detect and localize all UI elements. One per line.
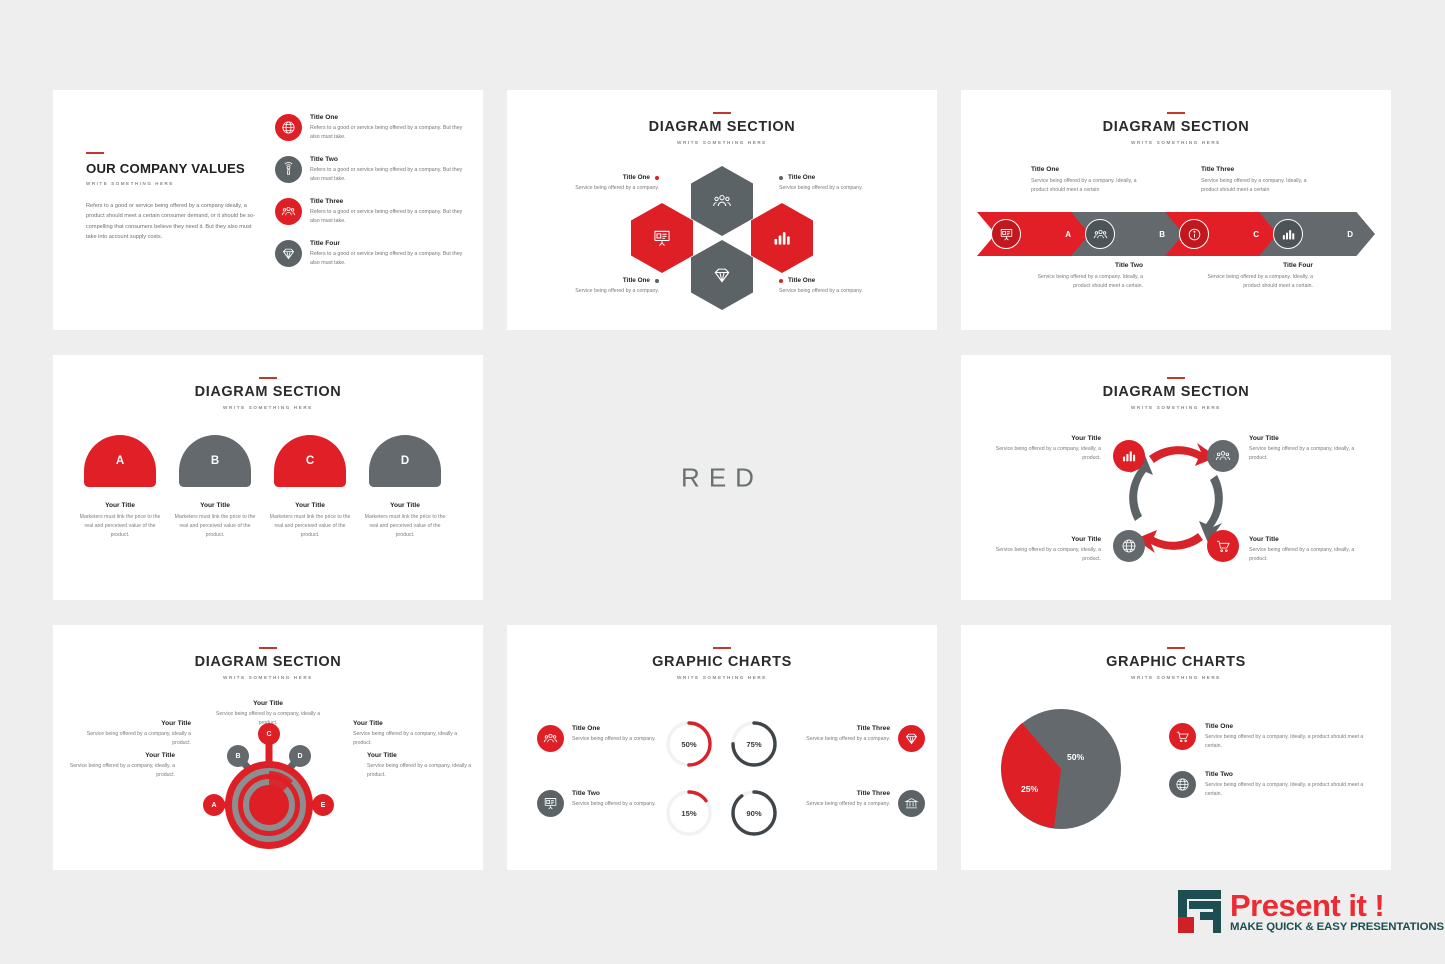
hexagon-label-bottom-right: Title One Service being offered by a com…: [779, 277, 919, 294]
chevron-label-title: Title One: [1031, 166, 1143, 173]
dome-item-d[interactable]: D Your Title Marketers must link the pri…: [364, 435, 446, 540]
chevron-label-four: Title Four Service being offered by a co…: [1201, 262, 1313, 291]
chevron-label-title: Title Four: [1201, 262, 1313, 269]
hexagon-label-title: Title One: [788, 277, 815, 284]
legend-text: Title Two Service being offered by a com…: [1205, 771, 1369, 799]
title-rule: [1167, 647, 1185, 649]
cycle-label-desc: Service being offered by a company, idea…: [1249, 445, 1359, 463]
title-rule: [259, 647, 277, 649]
slide-red-wordmark: RED: [507, 355, 937, 600]
donut-percent-label: 75%: [729, 719, 779, 769]
page-subtitle: WRITE SOMETHING HERE: [53, 675, 483, 680]
target-node-a[interactable]: A: [203, 794, 225, 816]
cycle-label-desc: Service being offered by a company, idea…: [991, 546, 1101, 564]
list-item-desc: Refers to a good or service being offere…: [310, 250, 465, 267]
pie-label-50: 50%: [1067, 752, 1084, 762]
presentation-icon: [991, 219, 1021, 249]
cycle-label-desc: Service being offered by a company, idea…: [1249, 546, 1359, 564]
target-node-letter: A: [211, 802, 216, 809]
dome-title: Your Title: [79, 502, 161, 509]
bullet-dot-icon: [779, 279, 783, 283]
dome-letter: B: [211, 455, 219, 467]
dome-title: Your Title: [364, 502, 446, 509]
slide-dome-diagram[interactable]: DIAGRAM SECTION WRITE SOMETHING HERE A Y…: [53, 355, 483, 600]
chevron-label-desc: Service being offered by a company. Idea…: [1031, 177, 1143, 195]
list-item-text: Title One Refers to a good or service be…: [310, 114, 465, 141]
bullet-dot-icon: [779, 176, 783, 180]
title-rule: [1167, 377, 1185, 379]
dome-letter: D: [401, 455, 409, 467]
globe-icon[interactable]: [1113, 530, 1145, 562]
target-node-letter: B: [235, 753, 240, 760]
hexagon-label-title: Title One: [623, 277, 650, 284]
bullet-dot-icon: [655, 279, 659, 283]
page-title: DIAGRAM SECTION: [961, 120, 1391, 136]
slide-hexagon-diagram[interactable]: DIAGRAM SECTION WRITE SOMETHING HERE: [507, 90, 937, 330]
slide-header: DIAGRAM SECTION WRITE SOMETHING HERE: [961, 377, 1391, 410]
cycle-graphic: [1109, 430, 1243, 564]
bullet-dot-icon: [655, 176, 659, 180]
chevron-label-desc: Service being offered by a company. Idea…: [1201, 177, 1313, 195]
target-node-letter: E: [321, 802, 326, 809]
page-title: DIAGRAM SECTION: [961, 385, 1391, 401]
slide-cycle-diagram[interactable]: DIAGRAM SECTION WRITE SOMETHING HERE: [961, 355, 1391, 600]
red-wordmark: RED: [507, 462, 937, 493]
list-item-text: Title Two Refers to a good or service be…: [310, 156, 465, 183]
page-subtitle: WRITE SOMETHING HERE: [961, 405, 1391, 410]
page-title: DIAGRAM SECTION: [53, 655, 483, 671]
target-label-left-lower: Your Title Service being offered by a co…: [67, 752, 175, 780]
chevron-label-title: Title Three: [1201, 166, 1313, 173]
dome-desc: Marketers must link the price to the rea…: [174, 513, 256, 540]
dome-shape: D: [369, 435, 441, 487]
chevron-label-one: Title One Service being offered by a com…: [1031, 166, 1143, 195]
list-item-title: Title One: [310, 114, 465, 121]
page-title: DIAGRAM SECTION: [507, 120, 937, 136]
chevron-label-title: Title Two: [1031, 262, 1143, 269]
slide-header: DIAGRAM SECTION WRITE SOMETHING HERE: [507, 112, 937, 145]
cycle-label-desc: Service being offered by a company, idea…: [991, 445, 1101, 463]
podcast-icon: [275, 156, 302, 183]
barchart-icon: [1273, 219, 1303, 249]
cycle-label-title: Your Title: [1249, 435, 1359, 442]
dome-shape: B: [179, 435, 251, 487]
hexagon-bottom[interactable]: [691, 240, 753, 310]
bank-icon: [898, 790, 925, 817]
donut-percent-label: 50%: [664, 719, 714, 769]
list-item[interactable]: Title Three Refers to a good or service …: [275, 198, 465, 225]
dome-letter: A: [116, 455, 124, 467]
dome-desc: Marketers must link the price to the rea…: [269, 513, 351, 540]
target-label-title: Your Title: [67, 752, 175, 759]
chevron-label-two: Title Two Service being offered by a com…: [1031, 262, 1143, 291]
list-item-desc: Refers to a good or service being offere…: [310, 208, 465, 225]
page-subtitle: WRITE SOMETHING HERE: [507, 675, 937, 680]
info-icon: [1179, 219, 1209, 249]
list-item-desc: Refers to a good or service being offere…: [310, 124, 465, 141]
page-subtitle: WRITE SOMETHING HERE: [507, 140, 937, 145]
list-item-text: Title Three Refers to a good or service …: [310, 198, 465, 225]
list-item[interactable]: Title Two Refers to a good or service be…: [275, 156, 465, 183]
title-rule: [1167, 112, 1185, 114]
page-title: DIAGRAM SECTION: [53, 385, 483, 401]
donut-legend-right-one[interactable]: Title Three Service being offered by a c…: [775, 725, 925, 752]
hexagon-left[interactable]: [631, 203, 693, 273]
chevron-letter: B: [1159, 230, 1165, 239]
legend-desc: Service being offered by a company.: [806, 800, 890, 809]
chevron-letter: A: [1065, 230, 1071, 239]
globe-icon: [1169, 771, 1196, 798]
present-it-logo: Present it ! MAKE QUICK & EASY PRESENTAT…: [1176, 888, 1444, 935]
legend-text: Title One Service being offered by a com…: [1205, 723, 1369, 751]
donut-gauge-75[interactable]: 75%: [729, 719, 779, 769]
hexagon-label-desc: Service being offered by a company.: [779, 185, 919, 191]
people-icon: [275, 198, 302, 225]
hexagon-label-top-right: Title One Service being offered by a com…: [779, 174, 919, 191]
barchart-icon[interactable]: [1113, 440, 1145, 472]
target-label-title: Your Title: [353, 720, 461, 727]
company-values-intro: OUR COMPANY VALUES WRITE SOMETHING HERE …: [86, 152, 261, 242]
dome-row: A Your Title Marketers must link the pri…: [79, 435, 446, 540]
cycle-label-title: Your Title: [991, 435, 1101, 442]
brackets-logo-icon: [1176, 888, 1223, 935]
logo-sub-text: MAKE QUICK & EASY PRESENTATIONS: [1230, 922, 1444, 933]
target-label-title: Your Title: [214, 700, 322, 707]
target-node-d[interactable]: D: [289, 745, 311, 767]
pie-legend-item-two[interactable]: Title Two Service being offered by a com…: [1169, 771, 1369, 799]
dome-title: Your Title: [174, 502, 256, 509]
target-label-title: Your Title: [367, 752, 475, 759]
hexagon-label-bottom-left: Title One Service being offered by a com…: [519, 277, 659, 294]
hexagon-label-title: Title One: [788, 174, 815, 181]
dome-letter: C: [306, 455, 314, 467]
target-label-right-lower: Your Title Service being offered by a co…: [367, 752, 475, 780]
page-subtitle: WRITE SOMETHING HERE: [961, 140, 1391, 145]
title-rule: [86, 152, 104, 154]
hexagon-top[interactable]: [691, 166, 753, 236]
slide-company-values[interactable]: OUR COMPANY VALUES WRITE SOMETHING HERE …: [53, 90, 483, 330]
legend-text: Title One Service being offered by a com…: [572, 725, 656, 744]
pie-chart-graphic[interactable]: 50% 25%: [999, 707, 1123, 831]
donut-gauge-15[interactable]: 15%: [664, 788, 714, 838]
slide-header: GRAPHIC CHARTS WRITE SOMETHING HERE: [507, 647, 937, 680]
logo-text: Present it ! MAKE QUICK & EASY PRESENTAT…: [1230, 890, 1444, 933]
cycle-label-top-left: Your Title Service being offered by a co…: [991, 435, 1101, 463]
dome-desc: Marketers must link the price to the rea…: [79, 513, 161, 540]
target-node-b[interactable]: B: [227, 745, 249, 767]
legend-desc: Service being offered by a company.: [572, 735, 656, 744]
chevron-row: A B C D: [977, 212, 1375, 256]
page-title: GRAPHIC CHARTS: [961, 655, 1391, 671]
target-node-e[interactable]: E: [312, 794, 334, 816]
dome-title: Your Title: [269, 502, 351, 509]
legend-title: Title Three: [806, 725, 890, 732]
legend-desc: Service being offered by a company. Idea…: [1205, 733, 1369, 751]
diamond-icon: [898, 725, 925, 752]
target-node-c[interactable]: C: [258, 723, 280, 745]
people-icon: [1085, 219, 1115, 249]
list-item-text: Title Four Refers to a good or service b…: [310, 240, 465, 267]
dome-desc: Marketers must link the price to the rea…: [364, 513, 446, 540]
legend-title: Title Two: [572, 790, 656, 797]
chevron-label-desc: Service being offered by a company. Idea…: [1201, 273, 1313, 291]
target-label-right-upper: Your Title Service being offered by a co…: [353, 720, 461, 748]
target-label-desc: Service being offered by a company, idea…: [353, 730, 461, 748]
list-item[interactable]: Title One Refers to a good or service be…: [275, 114, 465, 141]
slide-header: DIAGRAM SECTION WRITE SOMETHING HERE: [53, 377, 483, 410]
body-paragraph: Refers to a good or service being offere…: [86, 201, 261, 242]
slide-deck-preview: OUR COMPANY VALUES WRITE SOMETHING HERE …: [0, 0, 1445, 964]
company-values-list: Title One Refers to a good or service be…: [275, 114, 465, 282]
legend-title: Title One: [1205, 723, 1369, 730]
target-node-letter: C: [266, 731, 271, 738]
target-label-desc: Service being offered by a company, idea…: [83, 730, 191, 748]
legend-title: Title One: [572, 725, 656, 732]
cart-icon[interactable]: [1207, 530, 1239, 562]
chevron-letter: D: [1347, 230, 1353, 239]
dome-item-c[interactable]: C Your Title Marketers must link the pri…: [269, 435, 351, 540]
logo-main-text: Present it !: [1230, 890, 1444, 921]
title-rule: [713, 112, 731, 114]
donut-percent-label: 15%: [664, 788, 714, 838]
donut-gauge-90[interactable]: 90%: [729, 788, 779, 838]
donut-gauge-50[interactable]: 50%: [664, 719, 714, 769]
dome-item-b[interactable]: B Your Title Marketers must link the pri…: [174, 435, 256, 540]
target-label-left-upper: Your Title Service being offered by a co…: [83, 720, 191, 748]
pie-legend-item-one[interactable]: Title One Service being offered by a com…: [1169, 723, 1369, 751]
page-title: GRAPHIC CHARTS: [507, 655, 937, 671]
people-icon[interactable]: [1207, 440, 1239, 472]
people-icon: [537, 725, 564, 752]
legend-desc: Service being offered by a company. Idea…: [1205, 781, 1369, 799]
presentation-icon: [537, 790, 564, 817]
page-subtitle: WRITE SOMETHING HERE: [86, 181, 261, 186]
title-rule: [713, 647, 731, 649]
slide-grid: OUR COMPANY VALUES WRITE SOMETHING HERE …: [53, 90, 1392, 866]
dome-shape: A: [84, 435, 156, 487]
pie-label-25: 25%: [1021, 784, 1038, 794]
legend-title: Title Three: [806, 790, 890, 797]
cycle-label-bottom-right: Your Title Service being offered by a co…: [1249, 536, 1359, 564]
title-rule: [259, 377, 277, 379]
legend-title: Title Two: [1205, 771, 1369, 778]
list-item-title: Title Two: [310, 156, 465, 163]
diamond-icon: [275, 240, 302, 267]
slide-target-diagram[interactable]: DIAGRAM SECTION WRITE SOMETHING HERE You…: [53, 625, 483, 870]
target-label-title: Your Title: [83, 720, 191, 727]
cycle-label-title: Your Title: [1249, 536, 1359, 543]
chevron-label-three: Title Three Service being offered by a c…: [1201, 166, 1313, 195]
legend-text: Title Two Service being offered by a com…: [572, 790, 656, 809]
list-item-desc: Refers to a good or service being offere…: [310, 166, 465, 183]
hexagon-label-title: Title One: [623, 174, 650, 181]
target-graphic: B C D A E: [181, 717, 356, 857]
hexagon-right[interactable]: [751, 203, 813, 273]
list-item-title: Title Four: [310, 240, 465, 247]
list-item[interactable]: Title Four Refers to a good or service b…: [275, 240, 465, 267]
slide-donut-charts[interactable]: GRAPHIC CHARTS WRITE SOMETHING HERE Titl…: [507, 625, 937, 870]
cart-icon: [1169, 723, 1196, 750]
slide-header: DIAGRAM SECTION WRITE SOMETHING HERE: [53, 647, 483, 680]
target-label-desc: Service being offered by a company, idea…: [67, 762, 175, 780]
page-subtitle: WRITE SOMETHING HERE: [53, 405, 483, 410]
cycle-label-top-right: Your Title Service being offered by a co…: [1249, 435, 1359, 463]
slide-header: GRAPHIC CHARTS WRITE SOMETHING HERE: [961, 647, 1391, 680]
pie-legend: Title One Service being offered by a com…: [1169, 723, 1369, 818]
slide-chevron-process[interactable]: DIAGRAM SECTION WRITE SOMETHING HERE Tit…: [961, 90, 1391, 330]
cycle-label-title: Your Title: [991, 536, 1101, 543]
legend-desc: Service being offered by a company.: [572, 800, 656, 809]
cycle-label-bottom-left: Your Title Service being offered by a co…: [991, 536, 1101, 564]
hexagon-label-desc: Service being offered by a company.: [519, 288, 659, 294]
chevron-label-desc: Service being offered by a company. Idea…: [1031, 273, 1143, 291]
list-item-title: Title Three: [310, 198, 465, 205]
globe-icon: [275, 114, 302, 141]
dome-item-a[interactable]: A Your Title Marketers must link the pri…: [79, 435, 161, 540]
page-title: OUR COMPANY VALUES: [86, 161, 261, 176]
slide-header: DIAGRAM SECTION WRITE SOMETHING HERE: [961, 112, 1391, 145]
donut-legend-right-two[interactable]: Title Three Service being offered by a c…: [775, 790, 925, 817]
page-subtitle: WRITE SOMETHING HERE: [961, 675, 1391, 680]
donut-percent-label: 90%: [729, 788, 779, 838]
hexagon-label-desc: Service being offered by a company.: [519, 185, 659, 191]
dome-shape: C: [274, 435, 346, 487]
target-node-letter: D: [297, 753, 302, 760]
chevron-letter: C: [1253, 230, 1259, 239]
slide-pie-chart[interactable]: GRAPHIC CHARTS WRITE SOMETHING HERE 50% …: [961, 625, 1391, 870]
target-label-desc: Service being offered by a company, idea…: [367, 762, 475, 780]
legend-desc: Service being offered by a company.: [806, 735, 890, 744]
hexagon-label-desc: Service being offered by a company.: [779, 288, 919, 294]
hexagon-label-top-left: Title One Service being offered by a com…: [519, 174, 659, 191]
legend-text: Title Three Service being offered by a c…: [806, 790, 890, 809]
legend-text: Title Three Service being offered by a c…: [806, 725, 890, 744]
